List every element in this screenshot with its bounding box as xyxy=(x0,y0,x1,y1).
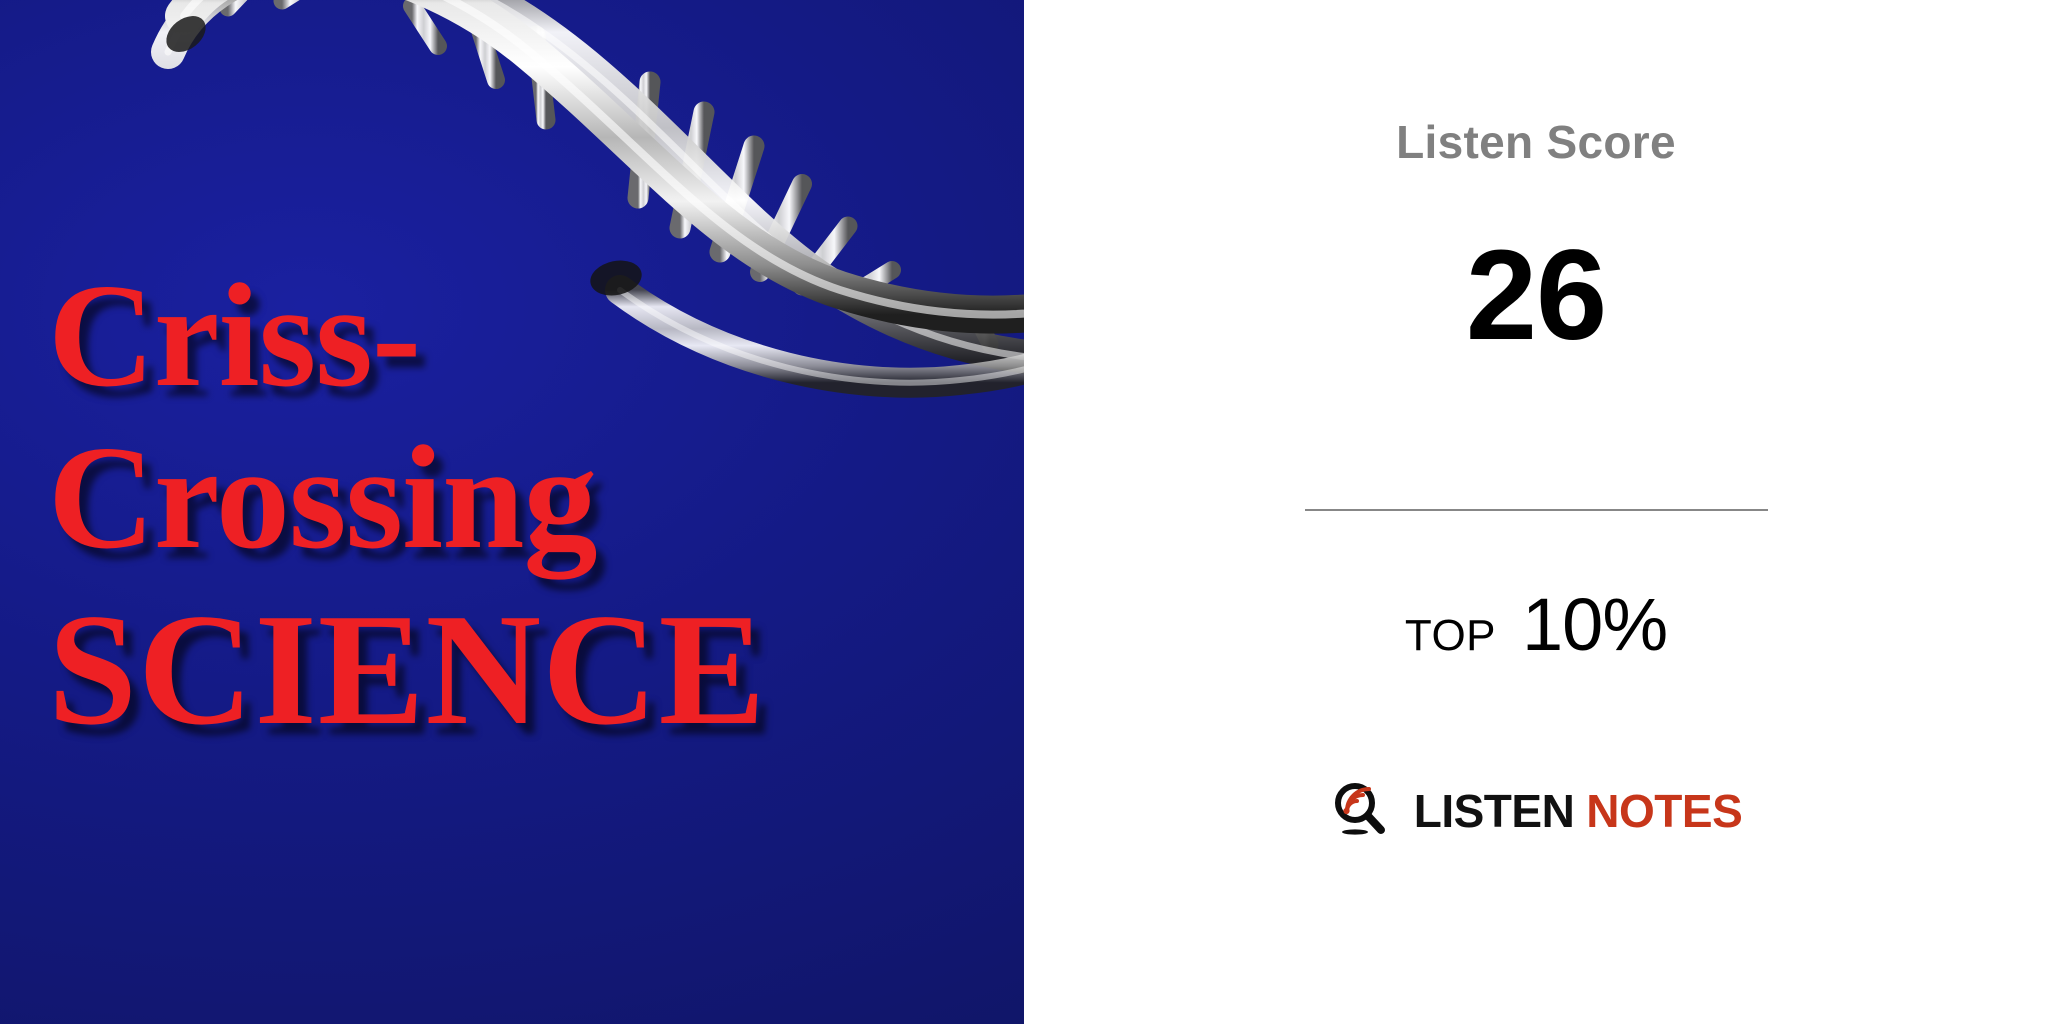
magnifier-rss-icon xyxy=(1330,780,1392,842)
listen-notes-logo[interactable]: LISTENNOTES xyxy=(1024,780,2048,842)
cover-title-line-3: SCIENCE xyxy=(48,595,1008,744)
listen-notes-wordmark: LISTENNOTES xyxy=(1414,784,1743,838)
listen-score-panel: Listen Score 26 TOP 10% xyxy=(1024,0,2048,1024)
listen-score-badge: Criss- Crossing SCIENCE Listen Score 26 … xyxy=(0,0,2048,1024)
logo-word-notes: NOTES xyxy=(1586,785,1742,837)
podcast-cover-art: Criss- Crossing SCIENCE xyxy=(0,0,1024,1024)
listen-score-value: 26 xyxy=(1024,222,2048,369)
cover-title-line-2: Crossing xyxy=(48,430,1008,568)
cover-title: Criss- Crossing SCIENCE xyxy=(48,268,1008,744)
listen-score-label: Listen Score xyxy=(1024,115,2048,169)
logo-word-listen: LISTEN xyxy=(1414,785,1575,837)
cover-title-line-1: Criss- xyxy=(48,268,1008,406)
rank-prefix-label: TOP xyxy=(1405,611,1496,661)
listen-score-rank: TOP 10% xyxy=(1024,582,2048,667)
rank-percentile-value: 10% xyxy=(1522,582,1667,667)
score-divider xyxy=(1305,509,1768,511)
